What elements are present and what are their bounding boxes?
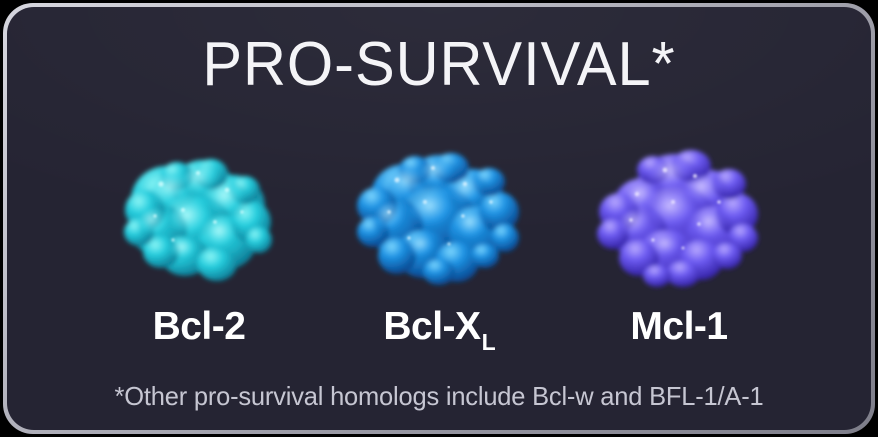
protein-structure-bcl-xl[interactable] bbox=[319, 135, 559, 305]
page-title: PRO-SURVIVAL* bbox=[24, 34, 853, 96]
protein-label-row: Bcl-2 Bcl-XL Mcl-1 bbox=[7, 307, 871, 365]
protein-label-bcl-xl: Bcl-XL bbox=[319, 307, 559, 365]
protein-structure-bcl-2[interactable] bbox=[79, 135, 319, 305]
protein-label-text: Bcl-X bbox=[383, 305, 480, 348]
footnote: *Other pro-survival homologs include Bcl… bbox=[16, 381, 863, 412]
protein-label-subscript: L bbox=[482, 329, 496, 355]
protein-surface-icon bbox=[579, 140, 779, 300]
protein-structure-row bbox=[7, 135, 871, 305]
pro-survival-card: PRO-SURVIVAL* bbox=[3, 3, 875, 434]
card-body: PRO-SURVIVAL* bbox=[7, 7, 871, 430]
protein-label-bcl-2: Bcl-2 bbox=[79, 307, 319, 365]
protein-structure-mcl-1[interactable] bbox=[559, 135, 799, 305]
protein-label-text: Bcl-2 bbox=[153, 305, 246, 348]
protein-surface-icon bbox=[99, 140, 299, 300]
protein-label-text: Mcl-1 bbox=[630, 305, 727, 348]
protein-surface-icon bbox=[339, 140, 539, 300]
protein-label-mcl-1: Mcl-1 bbox=[559, 307, 799, 365]
